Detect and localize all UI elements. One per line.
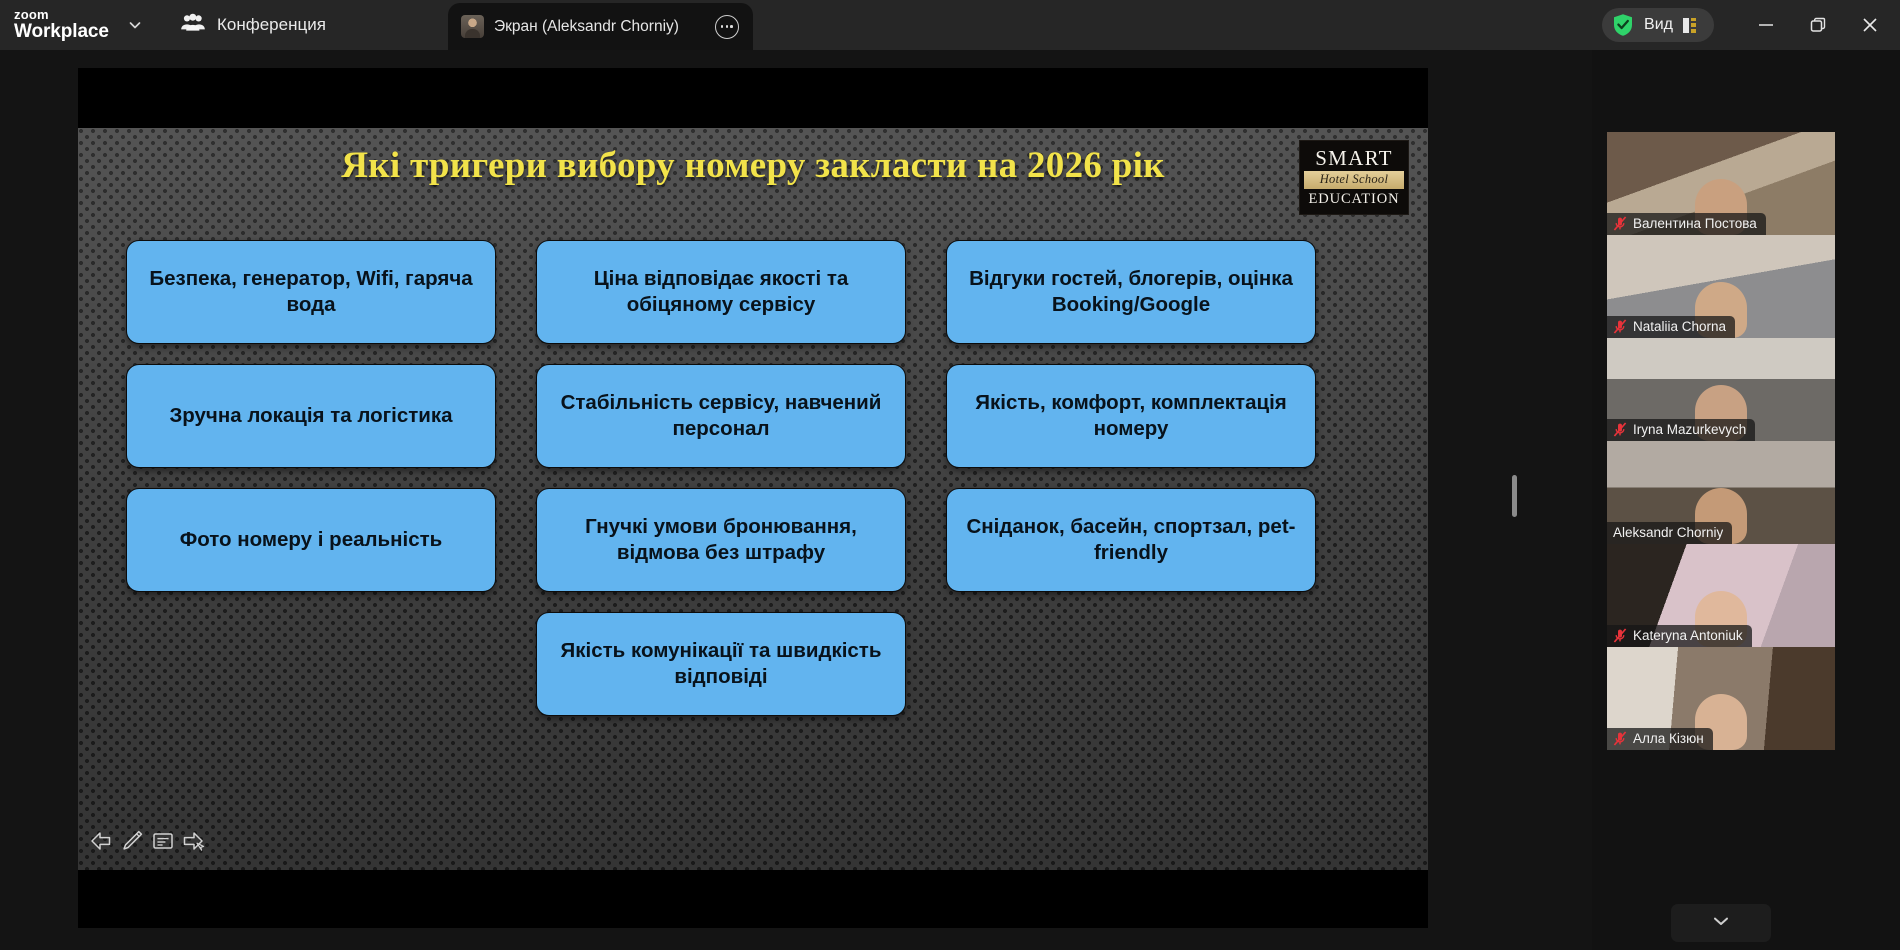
mic-muted-icon	[1613, 319, 1627, 334]
trigger-row: Якість комунікації та швидкість відповід…	[126, 612, 1316, 716]
logo-line-2: Hotel School	[1304, 171, 1404, 189]
brand-line-1: zoom	[14, 8, 112, 22]
trigger-row: Зручна локація та логістика Стабільність…	[126, 364, 1316, 468]
participant-tile[interactable]: Iryna Mazurkevych	[1607, 338, 1835, 441]
notes-icon[interactable]	[150, 828, 176, 854]
trigger-box: Стабільність сервісу, навчений персонал	[536, 364, 906, 468]
layout-icon	[1683, 18, 1698, 33]
trigger-box: Якість, комфорт, комплектація номеру	[946, 364, 1316, 468]
trigger-box: Безпека, генератор, Wifi, гаряча вода	[126, 240, 496, 344]
participant-name: Алла Кізюн	[1633, 731, 1704, 746]
logo-line-1: SMART	[1315, 148, 1393, 169]
trigger-box: Фото номеру і реальність	[126, 488, 496, 592]
brand-line-2: Workplace	[14, 22, 112, 42]
participant-strip: Валентина Постова Na	[1592, 50, 1900, 950]
trigger-box: Ціна відповідає якості та обіцяному серв…	[536, 240, 906, 344]
trigger-box: Відгуки гостей, блогерів, оцінка Booking…	[946, 240, 1316, 344]
trigger-box: Гнучкі умови бронювання, відмова без штр…	[536, 488, 906, 592]
participant-name: Валентина Постова	[1633, 216, 1757, 231]
pointer-arrow-icon[interactable]	[181, 828, 207, 854]
trigger-boxes-grid: Безпека, генератор, Wifi, гаряча вода Ці…	[126, 240, 1316, 736]
trigger-cell: Відгуки гостей, блогерів, оцінка Booking…	[946, 240, 1316, 344]
scroll-down-button[interactable]	[1671, 904, 1771, 942]
tab-strip: Экран (Aleksandr Chorniy)	[348, 0, 1602, 50]
trigger-cell: Гнучкі умови бронювання, відмова без штр…	[536, 488, 906, 592]
pencil-icon[interactable]	[119, 828, 145, 854]
close-icon[interactable]	[1844, 0, 1896, 50]
trigger-cell: Стабільність сервісу, навчений персонал	[536, 364, 906, 468]
title-bar: zoom Workplace Конференция	[0, 0, 1900, 50]
window-controls: Вид	[1602, 0, 1900, 50]
trigger-cell: Зручна локація та логістика	[126, 364, 496, 468]
zoom-window: zoom Workplace Конференция	[0, 0, 1900, 950]
trigger-cell: Ціна відповідає якості та обіцяному серв…	[536, 240, 906, 344]
left-arrow-icon[interactable]	[88, 828, 114, 854]
trigger-box: Якість комунікації та швидкість відповід…	[536, 612, 906, 716]
avatar	[461, 15, 484, 38]
logo-line-3: EDUCATION	[1308, 191, 1399, 208]
shared-screen-stage: Які тригери вибору номеру закласти на 20…	[0, 50, 1592, 950]
chevron-down-icon	[1711, 914, 1731, 933]
trigger-cell: Безпека, генератор, Wifi, гаряча вода	[126, 240, 496, 344]
trigger-row: Фото номеру і реальність Гнучкі умови бр…	[126, 488, 1316, 592]
participant-name: Aleksandr Chorniy	[1613, 525, 1723, 540]
participant-tile-active-speaker[interactable]: Aleksandr Chorniy	[1607, 441, 1835, 544]
view-label: Вид	[1644, 16, 1673, 34]
smart-hotel-school-logo: SMART Hotel School EDUCATION	[1300, 141, 1408, 214]
participant-tile[interactable]: Nataliia Chorna	[1607, 235, 1835, 338]
video-scrollbar[interactable]	[1512, 475, 1517, 517]
people-icon	[180, 13, 206, 38]
presentation-slide: Які тригери вибору номеру закласти на 20…	[78, 128, 1428, 870]
mic-muted-icon	[1613, 422, 1627, 437]
more-options-icon[interactable]	[715, 15, 739, 39]
minimize-icon[interactable]	[1740, 0, 1792, 50]
annotation-toolbar	[88, 828, 207, 854]
chevron-down-icon[interactable]	[112, 0, 158, 50]
slide-title: Які тригери вибору номеру закласти на 20…	[78, 144, 1428, 187]
mic-muted-icon	[1613, 216, 1627, 231]
green-shield-check-icon	[1612, 13, 1634, 37]
participant-name-bar: Iryna Mazurkevych	[1607, 419, 1755, 441]
participant-name-bar: Валентина Постова	[1607, 213, 1766, 235]
mic-muted-icon	[1613, 628, 1627, 643]
trigger-box: Сніданок, басейн, спортзал, pet-friendly	[946, 488, 1316, 592]
conference-button[interactable]: Конференция	[158, 0, 348, 50]
tab-title: Экран (Aleksandr Chorniy)	[494, 18, 705, 36]
participant-name-bar: Алла Кізюн	[1607, 728, 1713, 750]
participant-tile[interactable]: Валентина Постова	[1607, 132, 1835, 235]
trigger-cell: Фото номеру і реальність	[126, 488, 496, 592]
participant-tile[interactable]: Kateryna Antoniuk	[1607, 544, 1835, 647]
trigger-cell: Якість комунікації та швидкість відповід…	[536, 612, 906, 716]
trigger-box: Зручна локація та логістика	[126, 364, 496, 468]
app-brand: zoom Workplace	[0, 8, 112, 42]
shared-screen-frame[interactable]: Які тригери вибору номеру закласти на 20…	[78, 68, 1428, 928]
participant-name: Nataliia Chorna	[1633, 319, 1726, 334]
participant-tile[interactable]: Алла Кізюн	[1607, 647, 1835, 750]
view-button[interactable]: Вид	[1602, 8, 1714, 42]
trigger-cell: Якість, комфорт, комплектація номеру	[946, 364, 1316, 468]
tab-screen-share[interactable]: Экран (Aleksandr Chorniy)	[448, 3, 753, 50]
trigger-row: Безпека, генератор, Wifi, гаряча вода Ці…	[126, 240, 1316, 344]
participant-name-bar: Nataliia Chorna	[1607, 316, 1735, 338]
participant-name-bar: Kateryna Antoniuk	[1607, 625, 1752, 647]
conference-label: Конференция	[217, 15, 326, 35]
participant-name: Kateryna Antoniuk	[1633, 628, 1743, 643]
participant-tiles: Валентина Постова Na	[1607, 132, 1897, 750]
participant-name: Iryna Mazurkevych	[1633, 422, 1746, 437]
restore-icon[interactable]	[1792, 0, 1844, 50]
trigger-cell: Сніданок, басейн, спортзал, pet-friendly	[946, 488, 1316, 592]
participant-name-bar: Aleksandr Chorniy	[1607, 522, 1732, 544]
mic-muted-icon	[1613, 731, 1627, 746]
